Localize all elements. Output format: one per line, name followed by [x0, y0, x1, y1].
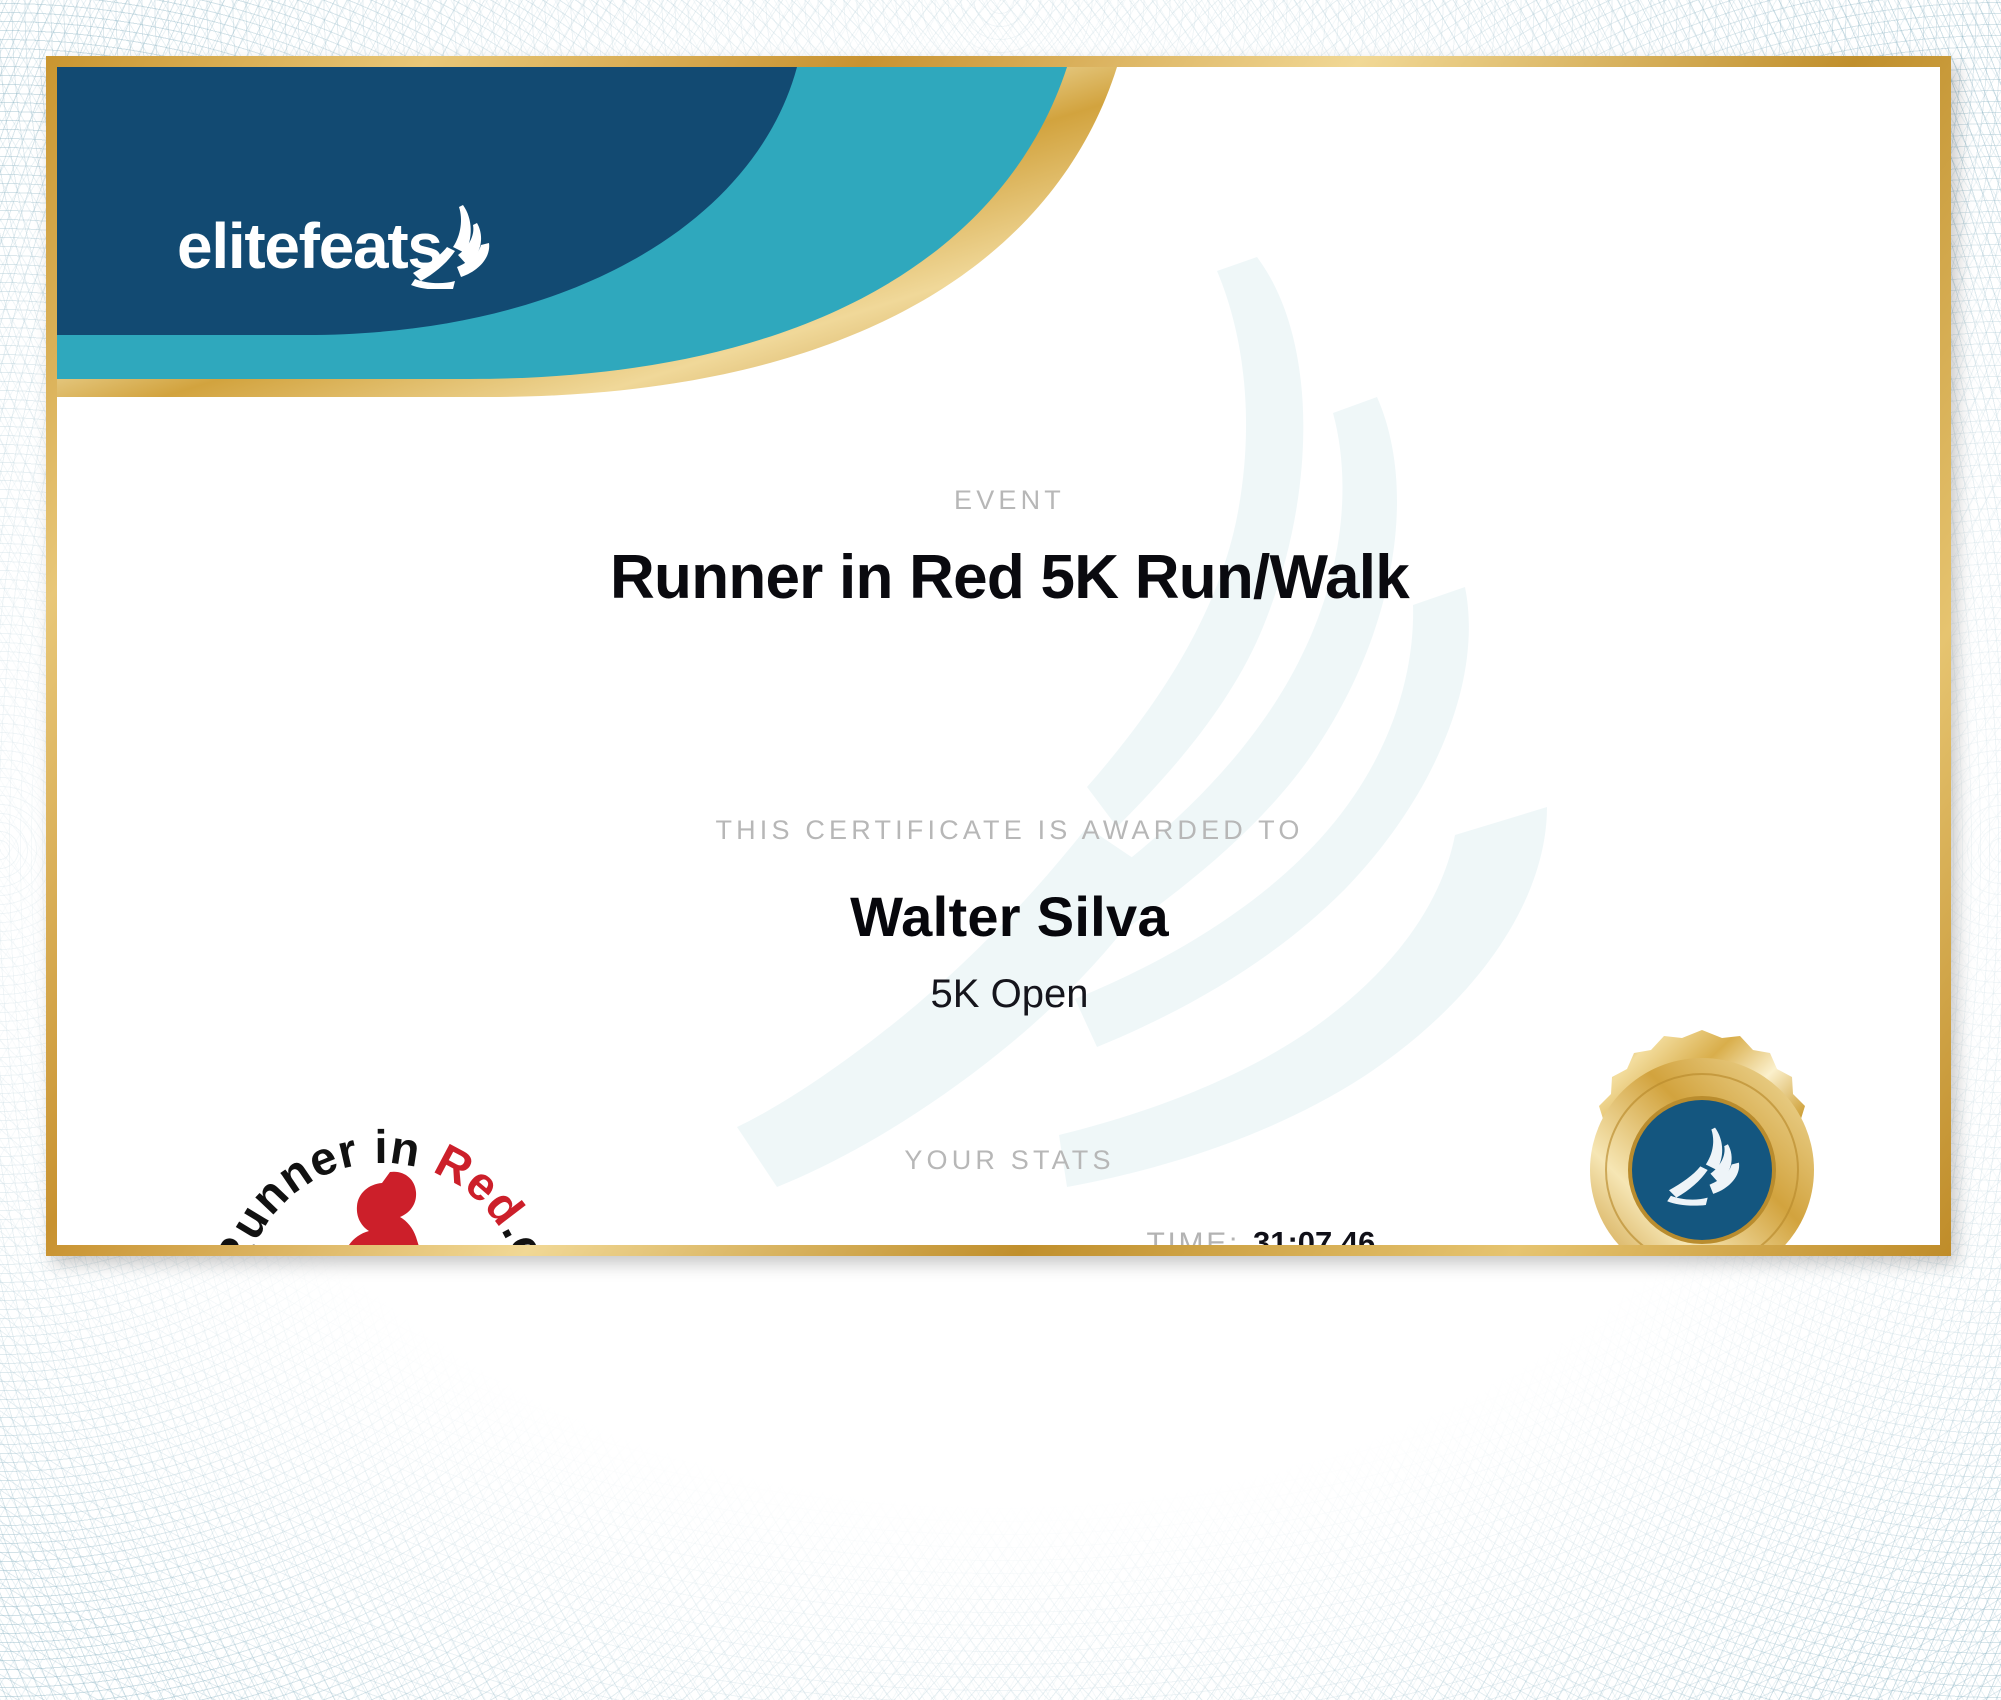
event-label: EVENT	[57, 485, 1940, 516]
stat-label: TIME:	[1147, 1227, 1241, 1245]
elitefeats-logo: elitefeats	[177, 209, 442, 283]
recipient-name: Walter Silva	[57, 884, 1940, 949]
event-title: Runner in Red 5K Run/Walk	[57, 542, 1940, 613]
winged-foot-icon	[403, 203, 495, 289]
medal-seal	[1590, 1030, 1814, 1245]
brand-wordmark: elitefeats	[177, 210, 442, 282]
division-name: 5K Open	[57, 972, 1940, 1017]
finisher-medal: 2024	[1537, 1022, 1867, 1245]
stat-value: 31:07.46	[1253, 1225, 1417, 1245]
runner-in-red-logo: Runner in Red.com • Barb's Beer •	[207, 1112, 557, 1245]
certificate-page: elitefeats EVENT Runner in Red 5K Run/Wa…	[0, 0, 2001, 1700]
awarded-to-label: THIS CERTIFICATE IS AWARDED TO	[57, 815, 1940, 846]
certificate-card: elitefeats EVENT Runner in Red 5K Run/Wa…	[46, 56, 1951, 1256]
